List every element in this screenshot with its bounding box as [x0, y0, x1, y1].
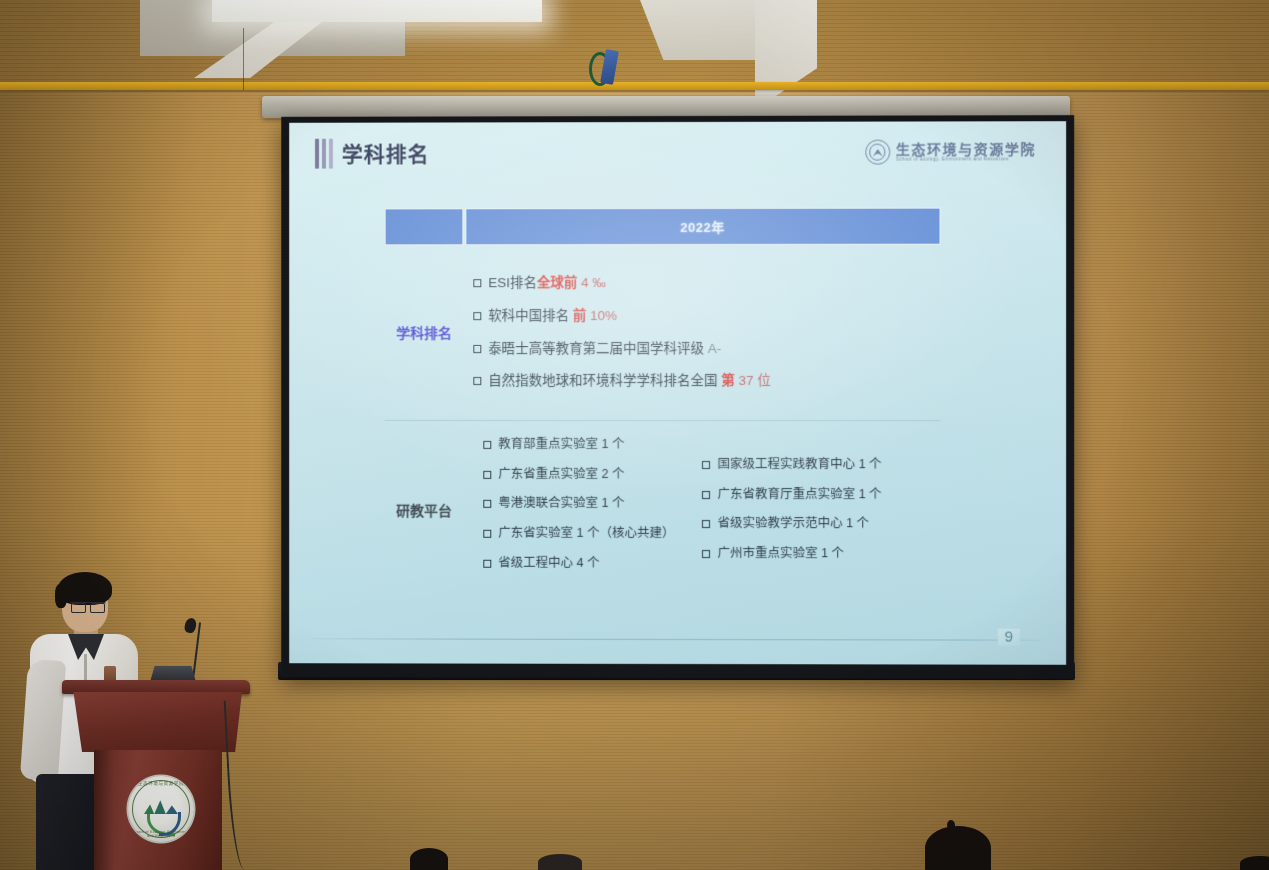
ranking-table: 2022年 学科排名 ESI排名全球前 4 ‰ 软科中国排名 前 10%	[385, 208, 941, 602]
crest-icon	[865, 140, 890, 165]
audience-head	[538, 854, 582, 870]
list-item-text: 泰晤士高等教育第二届中国学科评级 A-	[488, 340, 721, 357]
list-item-text: ESI排名全球前 4 ‰	[488, 275, 606, 292]
checkbox-bullet-icon	[702, 520, 710, 528]
footer-divider	[313, 638, 1042, 640]
emblem-text-cn: 生态环境与资源学院	[128, 781, 194, 787]
podium-school-emblem: 生态环境与资源学院 School of Ecology, Environment…	[128, 776, 194, 842]
list-item: 广东省实验室 1 个（核心共建）	[483, 526, 674, 542]
thin-cable	[243, 28, 244, 90]
logo-name-en: School of Ecology, Environment and Resou…	[896, 157, 1036, 163]
list-item: 省级工程中心 4 个	[483, 555, 674, 571]
table-header-label-cell	[385, 208, 464, 245]
list-item: 自然指数地球和环境科学学科排名全国 第 37 位	[473, 373, 940, 390]
checkbox-bullet-icon	[483, 471, 491, 479]
list-item-text: 广东省重点实验室 2 个	[498, 467, 624, 483]
checkbox-bullet-icon	[702, 461, 710, 469]
list-item-text: 教育部重点实验室 1 个	[498, 437, 624, 453]
list-item: 软科中国排名 前 10%	[473, 307, 940, 324]
presentation-slide: 学科排名 生态环境与资源学院 School of Ecology, Enviro…	[289, 121, 1066, 665]
list-item-text: 广州市重点实验室 1 个	[717, 546, 844, 562]
checkbox-bullet-icon	[473, 312, 481, 320]
title-accent-bars-icon	[315, 139, 333, 169]
school-logo: 生态环境与资源学院 School of Ecology, Environment…	[865, 139, 1036, 164]
list-item: 国家级工程实践教育中心 1 个	[702, 457, 881, 473]
podium-shading	[94, 750, 114, 870]
checkbox-bullet-icon	[702, 550, 710, 558]
checkbox-bullet-icon	[473, 279, 481, 287]
audience-head	[925, 826, 991, 870]
row-body-research-platform: 教育部重点实验室 1 个 广东省重点实验室 2 个 粤港澳联合实验室 1 个	[463, 421, 940, 602]
page-title: 学科排名	[342, 138, 430, 168]
list-item: 教育部重点实验室 1 个	[483, 437, 674, 453]
platform-right-column: 国家级工程实践教育中心 1 个 广东省教育厅重点实验室 1 个 省级实验教学示范…	[702, 437, 881, 585]
audience-head	[410, 848, 448, 870]
lecture-hall-scene: 学科排名 生态环境与资源学院 School of Ecology, Enviro…	[0, 0, 1269, 870]
slide-title-group: 学科排名	[315, 138, 429, 168]
platform-left-column: 教育部重点实验室 1 个 广东省重点实验室 2 个 粤港澳联合实验室 1 个	[483, 437, 674, 585]
podium-top-surface	[62, 680, 250, 694]
table-row: 学科排名 ESI排名全球前 4 ‰ 软科中国排名 前 10% 泰晤士	[385, 245, 941, 420]
checkbox-bullet-icon	[473, 377, 481, 385]
projection-screen: 学科排名 生态环境与资源学院 School of Ecology, Enviro…	[281, 115, 1074, 679]
row-body-discipline-ranking: ESI排名全球前 4 ‰ 软科中国排名 前 10% 泰晤士高等教育第二届中国学科…	[463, 264, 940, 400]
row-label-research-platform: 研教平台	[385, 501, 464, 521]
list-item: 粤港澳联合实验室 1 个	[483, 496, 674, 512]
list-item: 省级实验教学示范中心 1 个	[702, 516, 881, 532]
table-header-year-cell: 2022年	[465, 208, 940, 246]
list-item-text: 广东省教育厅重点实验室 1 个	[717, 487, 881, 503]
glasses-icon	[70, 602, 106, 610]
list-item-text: 自然指数地球和环境科学学科排名全国 第 37 位	[488, 373, 771, 390]
list-item: ESI排名全球前 4 ‰	[473, 275, 940, 292]
slide-footer: 9	[289, 627, 1066, 652]
row-label-discipline-ranking: 学科排名	[385, 323, 464, 343]
platform-two-column-layout: 教育部重点实验室 1 个 广东省重点实验室 2 个 粤港澳联合实验室 1 个	[473, 431, 940, 592]
lectern-podium: 生态环境与资源学院 School of Ecology, Environment…	[62, 680, 250, 870]
checkbox-bullet-icon	[702, 491, 710, 499]
podium-front-panel	[70, 692, 242, 752]
list-item: 广州市重点实验室 1 个	[702, 546, 881, 562]
checkbox-bullet-icon	[483, 441, 491, 449]
list-item-text: 粤港澳联合实验室 1 个	[498, 496, 624, 512]
ceiling-light-icon	[212, 0, 542, 22]
yellow-wall-trim	[0, 82, 1269, 90]
logo-text-block: 生态环境与资源学院 School of Ecology, Environment…	[896, 142, 1036, 162]
table-header-row: 2022年	[385, 208, 941, 246]
list-item: 广东省重点实验室 2 个	[483, 467, 674, 483]
list-item: 广东省教育厅重点实验室 1 个	[702, 487, 881, 503]
checkbox-bullet-icon	[483, 500, 491, 508]
checkbox-bullet-icon	[473, 345, 481, 353]
emblem-text-en: School of Ecology, Environment and Resou…	[128, 830, 194, 838]
list-item-text: 国家级工程实践教育中心 1 个	[717, 457, 881, 473]
checkbox-bullet-icon	[483, 559, 491, 567]
list-item-text: 省级工程中心 4 个	[498, 555, 599, 571]
checkbox-bullet-icon	[483, 530, 491, 538]
list-item-text: 省级实验教学示范中心 1 个	[717, 516, 869, 532]
table-row: 研教平台 教育部重点实验室 1 个 广东省重点实验室 2 个	[385, 420, 941, 602]
page-number: 9	[997, 629, 1019, 646]
audience-head	[1240, 856, 1269, 870]
slide-header: 学科排名 生态环境与资源学院 School of Ecology, Enviro…	[289, 121, 1066, 184]
list-item-text: 软科中国排名 前 10%	[488, 308, 617, 325]
list-item-text: 广东省实验室 1 个（核心共建）	[498, 526, 674, 542]
hanging-cable-bundle	[585, 48, 619, 94]
list-item: 泰晤士高等教育第二届中国学科评级 A-	[473, 340, 940, 357]
presenter-hair	[58, 572, 112, 605]
